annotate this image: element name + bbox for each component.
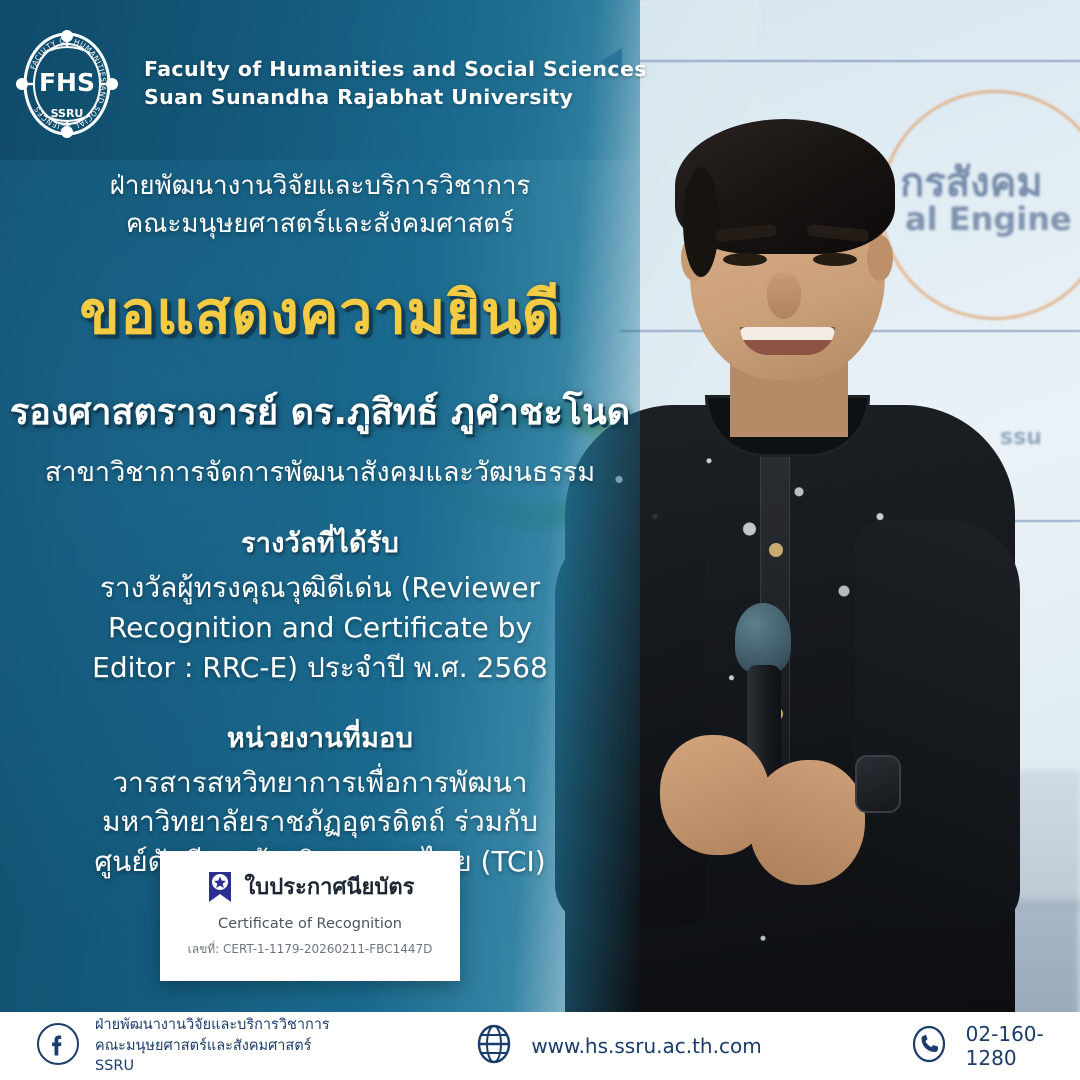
phone-icon xyxy=(907,1022,951,1070)
header-line-faculty: Faculty of Humanities and Social Science… xyxy=(144,56,647,84)
footer-facebook-text: ฝ่ายพัฒนางานวิจัยและบริการวิชาการ คณะมนุ… xyxy=(95,1015,330,1077)
certificate-title-th: ใบประกาศนียบัตร xyxy=(245,869,415,904)
honoree-program: สาขาวิชาการจัดการพัฒนาสังคมและวัฒนธรรม xyxy=(0,450,640,493)
globe-icon xyxy=(472,1022,516,1070)
header-title-block: Faculty of Humanities and Social Science… xyxy=(144,56,647,111)
poster-content: ฝ่ายพัฒนางานวิจัยและบริการวิชาการ คณะมนุ… xyxy=(0,168,640,882)
speaker-mouth xyxy=(740,327,835,355)
poster-footer: ฝ่ายพัฒนางานวิจัยและบริการวิชาการ คณะมนุ… xyxy=(0,1012,1080,1080)
microphone-head xyxy=(735,603,791,673)
speaker-nose xyxy=(767,273,801,319)
granter-line-2: มหาวิทยาลัยราชภัฏอุตรดิตถ์ ร่วมกับ xyxy=(0,802,640,842)
speaker-eye xyxy=(723,253,767,266)
department-line-2: คณะมนุษยศาสตร์และสังคมศาสตร์ xyxy=(0,206,640,244)
congratulations-headline: ขอแสดงความยินดี xyxy=(0,265,640,359)
department-line-1: ฝ่ายพัฒนางานวิจัยและบริการวิชาการ xyxy=(0,168,640,206)
certificate-card: ใบประกาศนียบัตร Certificate of Recogniti… xyxy=(160,851,460,981)
footer-phone-text: 02-160-1280 xyxy=(966,1022,1080,1070)
slide-connector-line xyxy=(640,60,1080,62)
congratulations-poster: การจัดการวิศวกร สังคม การพัฒนาสังคม และว… xyxy=(0,0,1080,1080)
award-line-2: Recognition and Certificate by xyxy=(0,608,640,648)
speaker-eye xyxy=(813,253,857,266)
certificate-subtitle-en: Certificate of Recognition xyxy=(176,916,444,932)
certificate-badge-icon xyxy=(206,871,234,903)
honoree-name: รองศาสตราจารย์ ดร.ภูสิทธ์ ภูคำชะโนด xyxy=(0,383,640,440)
speaker-ear xyxy=(867,235,893,281)
award-line-1: รางวัลผู้ทรงคุณวุฒิดีเด่น (Reviewer xyxy=(0,568,640,608)
poster-header: FHS SSRU FACULTY OF HUMANITIES AND SOCIA… xyxy=(0,24,660,144)
facebook-icon xyxy=(36,1022,80,1070)
award-heading: รางวัลที่ได้รับ xyxy=(0,521,640,564)
granter-line-1: วารสารสหวิทยาการเพื่อการพัฒนา xyxy=(0,763,640,803)
speaker-right-arm xyxy=(855,520,1020,930)
footer-facebook-line-2: คณะมนุษยศาสตร์และสังคมศาสตร์ SSRU xyxy=(95,1036,330,1077)
shirt-button xyxy=(769,543,783,557)
granter-heading: หน่วยงานที่มอบ xyxy=(0,716,640,759)
wristwatch xyxy=(855,755,901,813)
fhs-ssru-logo: FHS SSRU FACULTY OF HUMANITIES AND SOCIA… xyxy=(14,25,120,143)
award-section: รางวัลที่ได้รับ รางวัลผู้ทรงคุณวุฒิดีเด่… xyxy=(0,521,640,687)
footer-website-text: www.hs.ssru.ac.th.com xyxy=(531,1034,761,1058)
award-body: รางวัลผู้ทรงคุณวุฒิดีเด่น (Reviewer Reco… xyxy=(0,568,640,687)
certificate-number: เลขที่: CERT-1-1179-20260211-FBC1447D xyxy=(176,940,444,959)
speaker-right-hand xyxy=(750,760,865,885)
speaker-teeth xyxy=(740,327,835,340)
certificate-title-row: ใบประกาศนียบัตร xyxy=(176,869,444,904)
svg-text:SSRU: SSRU xyxy=(51,107,84,120)
award-line-3: Editor : RRC-E) ประจำปี พ.ศ. 2568 xyxy=(0,648,640,688)
footer-phone[interactable]: 02-160-1280 xyxy=(907,1022,1080,1070)
footer-facebook-line-1: ฝ่ายพัฒนางานวิจัยและบริการวิชาการ xyxy=(95,1015,330,1036)
header-line-university: Suan Sunandha Rajabhat University xyxy=(144,84,647,112)
footer-facebook[interactable]: ฝ่ายพัฒนางานวิจัยและบริการวิชาการ คณะมนุ… xyxy=(36,1015,330,1077)
footer-website[interactable]: www.hs.ssru.ac.th.com xyxy=(472,1022,761,1070)
svg-text:FHS: FHS xyxy=(39,68,95,97)
